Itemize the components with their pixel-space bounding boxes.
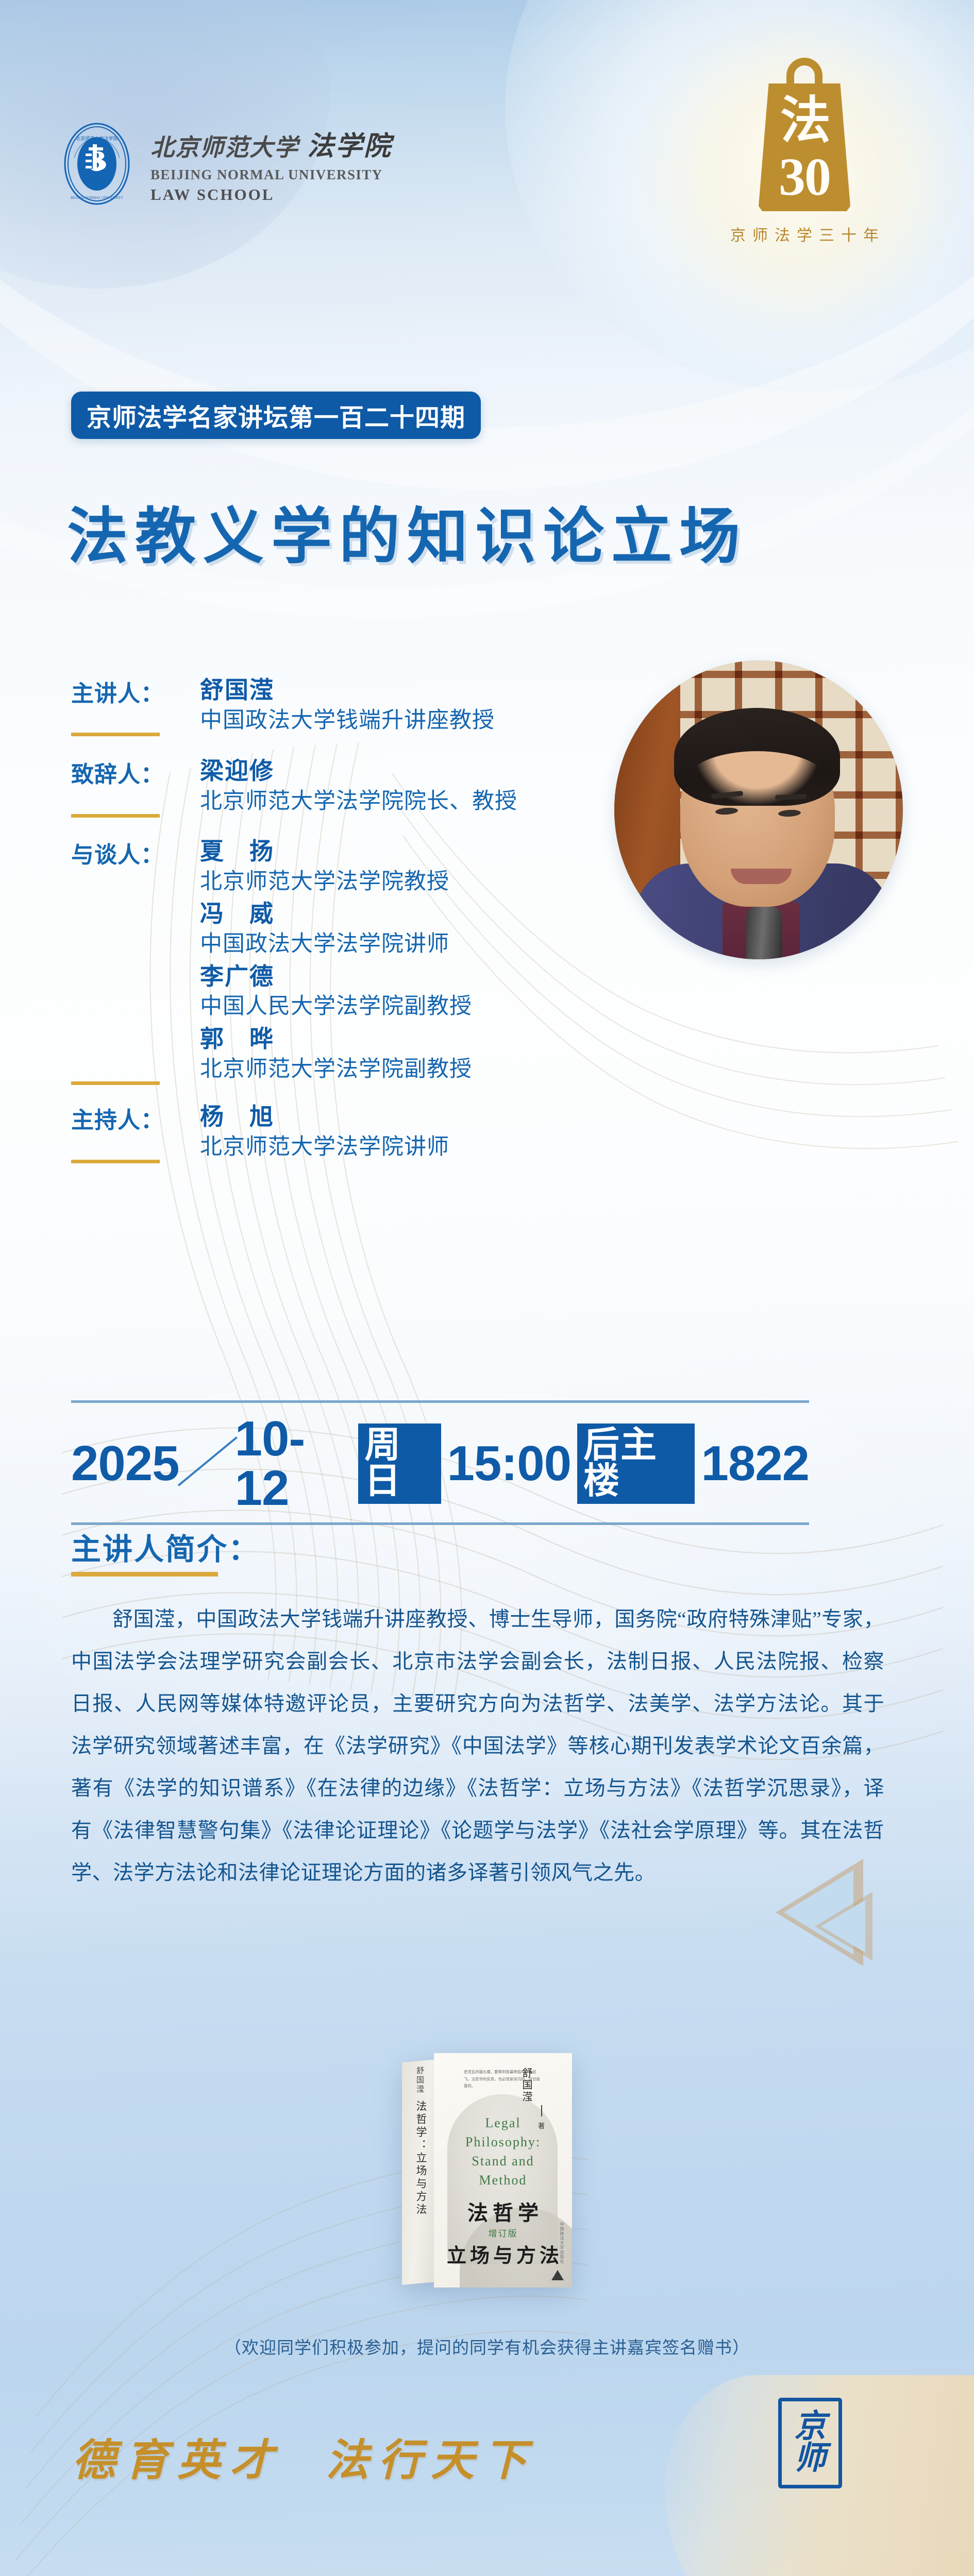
book-title-english: Legal Philosophy: Stand and Method xyxy=(434,2114,572,2190)
svg-text:BEIJING NORMAL UNIVERSITY: BEIJING NORMAL UNIVERSITY xyxy=(71,196,123,200)
svg-text:北京师范大学法学院: 北京师范大学法学院 xyxy=(76,135,117,141)
person-affiliation: 中国政法大学法学院讲师 xyxy=(200,929,974,959)
book-title-chinese-main: 法哲学 xyxy=(434,2196,572,2226)
event-datetime-venue: 2025 ／ 10-12 周日 15:00 后主楼 1822 xyxy=(71,1400,809,1525)
logo-university-name-cn: 北京师范大学 xyxy=(150,129,299,163)
seal-char-jing: 京 xyxy=(794,2412,826,2443)
date-separator-icon: ／ xyxy=(175,1437,240,1490)
person-affiliation: 北京师范大学法学院教授 xyxy=(200,867,974,897)
event-month-day: 10-12 xyxy=(235,1414,352,1513)
poster-footer: 德育英才 法行天下 京 师 xyxy=(0,2391,974,2576)
person-affiliation: 北京师范大学法学院副教授 xyxy=(200,1055,974,1084)
person-affiliation: 北京师范大学法学院院长、教授 xyxy=(200,787,974,817)
lecture-series-banner: 京师法学名家讲坛第一百二十四期 xyxy=(71,392,481,439)
jingshi-seal-icon: 京 师 xyxy=(778,2398,842,2488)
person-name: 杨 旭 xyxy=(200,1101,974,1132)
book-edition-label: 增订版 xyxy=(434,2226,572,2239)
participants-section: 主讲人： 舒国滢 中国政法大学钱端升讲座教授 致辞人： 梁迎修 北京师范大学法学… xyxy=(0,675,974,1167)
school-slogan: 德育英才 法行天下 xyxy=(72,2426,536,2488)
book-cover-image: 舒国滢 法哲学：立场与方法 密涅瓦的猫头鹰，要等到夜幕降临时才会起飞。法哲学的反… xyxy=(402,2053,572,2287)
participant-row-speaker: 主讲人： 舒国滢 中国政法大学钱端升讲座教授 xyxy=(0,675,974,737)
book-spine-author: 舒国滢 xyxy=(414,2066,425,2094)
book-author-name: 舒国滢 xyxy=(519,2067,534,2103)
logo-school-name-en: LAW SCHOOL xyxy=(150,185,392,204)
person-name: 冯 威 xyxy=(200,899,974,929)
bell-number-thirty: 30 xyxy=(751,150,858,204)
participant-row-opening-remarks: 致辞人： 梁迎修 北京师范大学法学院院长、教授 xyxy=(0,756,974,818)
participant-row-host: 主持人： 杨 旭 北京师范大学法学院讲师 xyxy=(0,1101,974,1164)
lecture-poster: 北京师范大学法学院 BEIJING NORMAL UNIVERSITY 北京师范… xyxy=(0,0,974,2576)
bio-heading: 主讲人简介： xyxy=(71,1525,260,1579)
event-time: 15:00 xyxy=(447,1439,572,1488)
triangle-small-inner xyxy=(819,1900,865,1953)
anniversary-emblem: 法 30 京师法学三十年 xyxy=(712,57,897,245)
book-title-en-line-1: Legal xyxy=(434,2114,572,2133)
lecture-series-label: 京师法学名家讲坛第一百二十四期 xyxy=(87,397,465,433)
book-spine-title: 法哲学：立场与方法 xyxy=(413,2100,429,2216)
person-name: 梁迎修 xyxy=(200,756,974,787)
event-venue-badge: 后主楼 xyxy=(577,1423,695,1504)
poster-header: 北京师范大学法学院 BEIJING NORMAL UNIVERSITY 北京师范… xyxy=(0,0,974,397)
page-title: 法教义学的知识论立场 xyxy=(67,487,747,575)
bnu-law-school-seal-icon: 北京师范大学法学院 BEIJING NORMAL UNIVERSITY xyxy=(63,122,131,206)
bell-character-fa: 法 xyxy=(751,96,858,146)
book-title-chinese-sub: 立场与方法 xyxy=(434,2240,572,2268)
participant-row-discussants: 与谈人： 夏 扬 北京师范大学法学院教授 冯 威 中国政法大学法学院讲师 李广德… xyxy=(0,836,974,1087)
book-publisher: 中国政法大学出版社 xyxy=(559,2222,565,2264)
role-label-discussants: 与谈人： xyxy=(71,836,200,1087)
book-front-cover: 密涅瓦的猫头鹰，要等到夜幕降临时才会起飞。法哲学的反思，也必须是深沉的、自甘寂寞… xyxy=(434,2053,572,2287)
person-name: 舒国滢 xyxy=(200,675,974,706)
bronze-bell-seal-icon: 法 30 xyxy=(751,57,858,211)
university-logo-block: 北京师范大学法学院 BEIJING NORMAL UNIVERSITY 北京师范… xyxy=(63,122,392,206)
attendance-note: （欢迎同学们积极参加，提问的同学有机会获得主讲嘉宾签名赠书） xyxy=(0,2334,974,2359)
triangle-outline-small xyxy=(813,1892,872,1961)
anniversary-caption: 京师法学三十年 xyxy=(712,223,897,245)
slogan-right: 法行天下 xyxy=(326,2426,536,2488)
person-affiliation: 中国人民大学法学院副教授 xyxy=(200,992,974,1022)
slogan-left: 德育英才 xyxy=(72,2426,282,2488)
book-title-en-line-2: Philosophy: xyxy=(434,2133,572,2152)
person-affiliation: 北京师范大学法学院讲师 xyxy=(200,1132,974,1162)
event-year: 2025 xyxy=(71,1439,179,1488)
person-affiliation: 中国政法大学钱端升讲座教授 xyxy=(200,706,974,736)
book-title-en-line-3: Stand and xyxy=(434,2152,572,2171)
person-name: 郭 晔 xyxy=(200,1024,974,1055)
speaker-bio-section: 主讲人简介： 舒国滢，中国政法大学钱端升讲座教授、博士生导师，国务院“政府特殊津… xyxy=(71,1525,901,1894)
book-title-en-line-4: Method xyxy=(434,2171,572,2190)
person-name: 夏 扬 xyxy=(200,836,974,867)
role-label-host: 主持人： xyxy=(71,1101,200,1164)
bio-paragraph: 舒国滢，中国政法大学钱端升讲座教授、博士生导师，国务院“政府特殊津贴”专家，中国… xyxy=(71,1598,884,1894)
seal-char-shi: 师 xyxy=(794,2444,826,2475)
person-name: 李广德 xyxy=(200,961,974,992)
role-label-opening-remarks: 致辞人： xyxy=(71,756,200,818)
logo-university-name-en: BEIJING NORMAL UNIVERSITY xyxy=(150,167,392,183)
event-weekday-badge: 周日 xyxy=(358,1423,441,1504)
book-cover-section: 舒国滢 法哲学：立场与方法 密涅瓦的猫头鹰，要等到夜幕降临时才会起飞。法哲学的反… xyxy=(0,2053,974,2287)
publisher-logo-icon xyxy=(551,2270,564,2280)
role-label-speaker: 主讲人： xyxy=(71,675,200,737)
logo-school-name-cn: 法学院 xyxy=(307,124,392,163)
event-room-number: 1822 xyxy=(701,1439,809,1488)
